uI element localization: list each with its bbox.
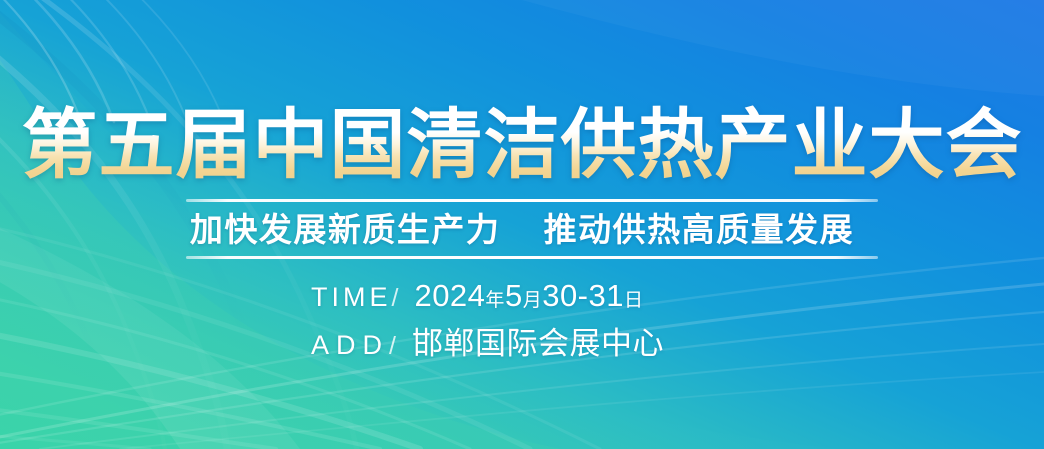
- page-title: 第五届中国清洁供热产业大会: [0, 103, 1044, 189]
- address-separator: /: [389, 332, 396, 361]
- time-label: TIME: [311, 282, 392, 313]
- event-details: TIME / 2024年5月30-31日 ADD / 邯郸国际会展中心: [311, 278, 664, 358]
- time-separator: /: [392, 284, 399, 313]
- time-day-unit: 日: [624, 290, 644, 311]
- time-value: 2024年5月30-31日: [414, 278, 643, 314]
- address-value: 邯郸国际会展中心: [412, 318, 664, 363]
- time-day-value: 30-31: [542, 278, 624, 313]
- time-month-unit: 月: [523, 290, 543, 311]
- subtitle-part-one: 加快发展新质生产力: [190, 211, 501, 248]
- time-year-value: 2024: [414, 278, 485, 313]
- banner-content: 第五届中国清洁供热产业大会 加快发展新质生产力 推动供热高质量发展 TIME /…: [0, 0, 1044, 449]
- divider-top: [186, 199, 878, 202]
- time-year-unit: 年: [485, 290, 505, 311]
- conference-banner: 第五届中国清洁供热产业大会 加快发展新质生产力 推动供热高质量发展 TIME /…: [0, 0, 1044, 449]
- page-subtitle: 加快发展新质生产力 推动供热高质量发展: [0, 208, 1044, 252]
- event-time-row: TIME / 2024年5月30-31日: [311, 278, 664, 318]
- address-label: ADD: [311, 330, 389, 361]
- divider-bottom: [186, 256, 878, 259]
- time-month-value: 5: [505, 278, 523, 313]
- subtitle-part-two: 推动供热高质量发展: [544, 211, 855, 248]
- event-address-row: ADD / 邯郸国际会展中心: [311, 318, 664, 358]
